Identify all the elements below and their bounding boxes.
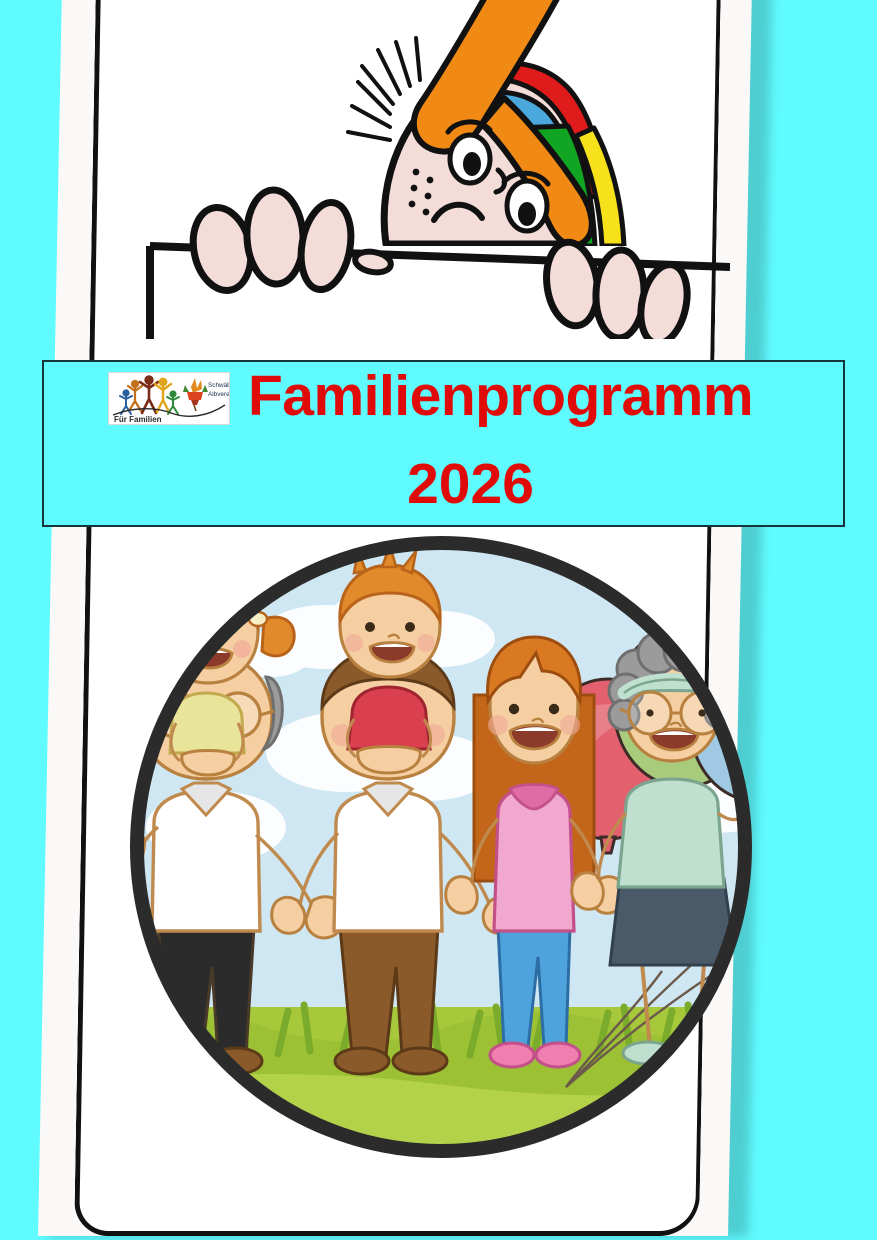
title-box: Schwäbischer Albverein Für Familien Fami… (42, 360, 845, 527)
right-hand-fingers (541, 239, 693, 339)
shoe (152, 1048, 204, 1074)
child-peeking-illustration (90, 0, 730, 339)
pigtail-left (122, 617, 154, 656)
person-boy-on-shoulders (340, 545, 440, 773)
shoe (393, 1048, 447, 1074)
poster-title-line2: 2026 (44, 456, 847, 513)
shoe (536, 1043, 580, 1067)
family-circle-illustration (96, 527, 796, 1172)
skirt (610, 879, 736, 965)
poster-title-line1: Familienprogramm (44, 368, 847, 425)
poster-canvas: Schwäbischer Albverein Für Familien Fami… (0, 0, 877, 1240)
shoe (490, 1043, 534, 1067)
shoe (675, 1042, 725, 1064)
shoe (335, 1048, 389, 1074)
left-hand-fingers (186, 189, 393, 296)
